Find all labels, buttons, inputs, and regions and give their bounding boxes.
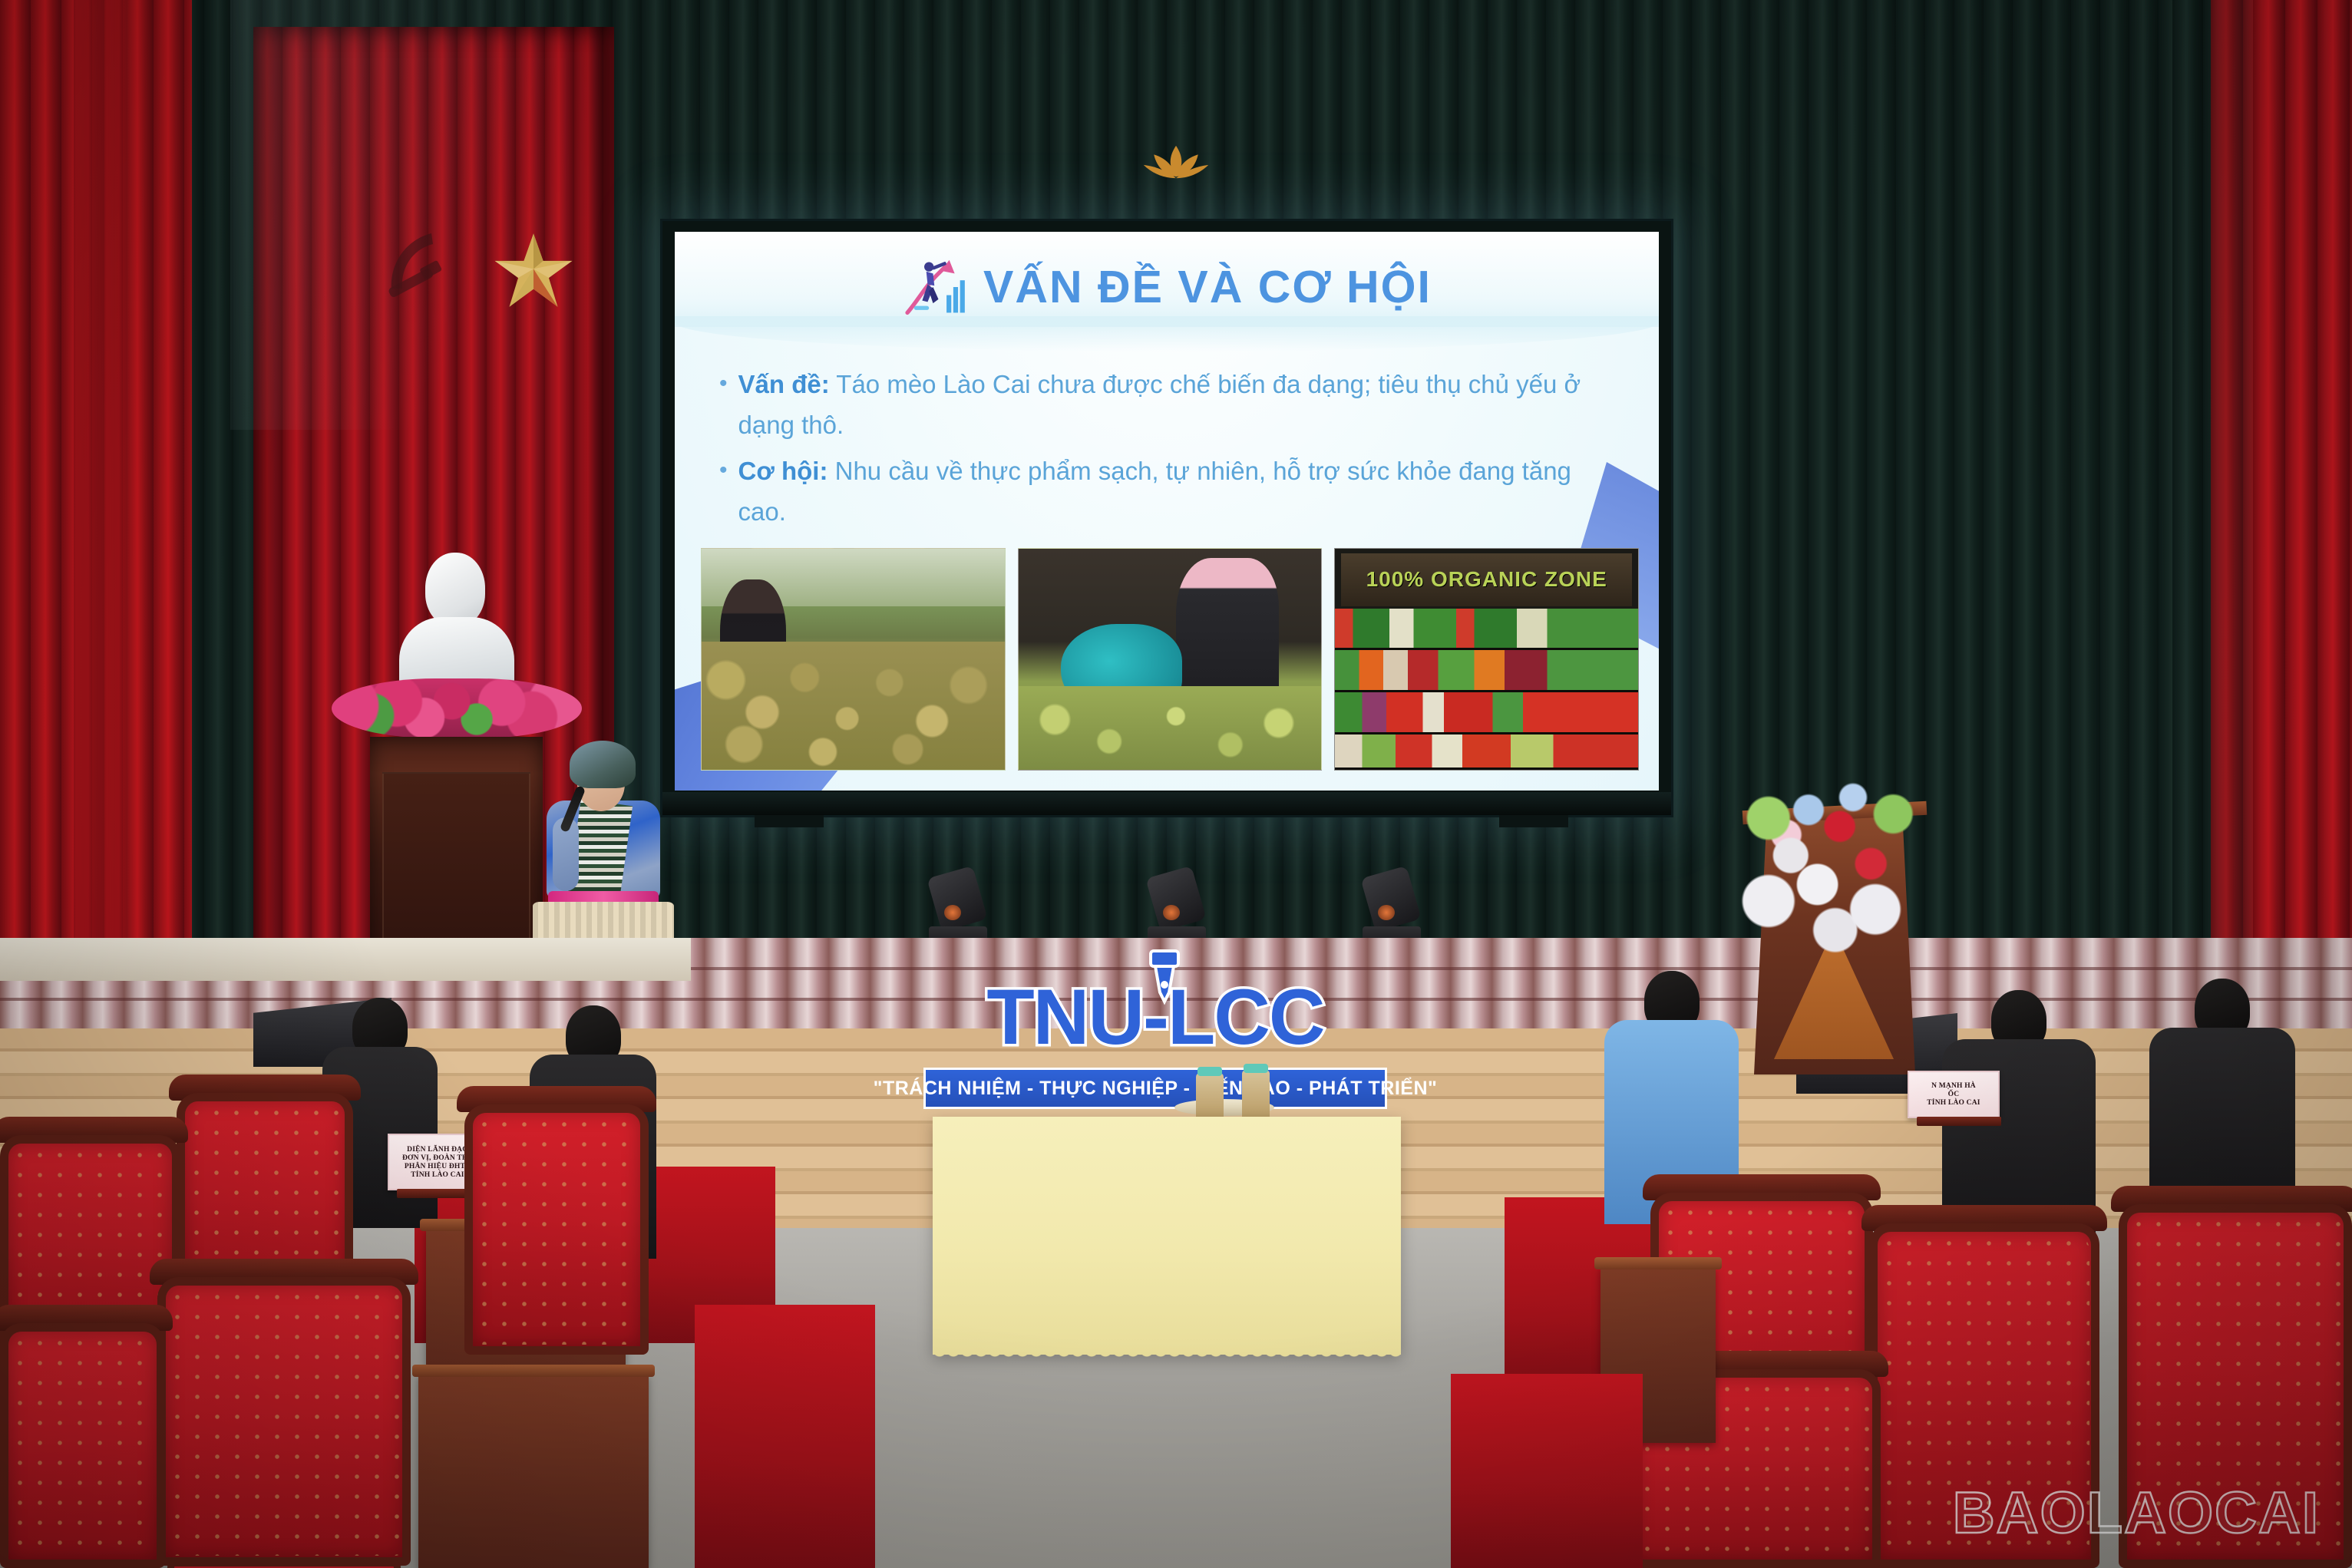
person-climbing-growth-arrow-chart-icon xyxy=(902,252,970,322)
chair-back xyxy=(157,1277,411,1566)
slide-photo-row: 100% ORGANIC ZONE xyxy=(701,548,1639,771)
spotlight-head xyxy=(1360,866,1421,932)
chair-upholstery-studs xyxy=(167,1287,401,1556)
namecard-stand xyxy=(1917,1117,2001,1126)
bullet-text: Cơ hội: Nhu cầu về thực phẩm sạch, tự nh… xyxy=(738,451,1625,533)
slide-title-row: VẤN ĐỀ VÀ CƠ HỘI xyxy=(675,252,1659,322)
produce-shelf-row xyxy=(1335,692,1638,734)
chair-upholstery-studs xyxy=(474,1114,639,1345)
product-display-table xyxy=(933,1117,1401,1355)
right-red-curtain-fold xyxy=(2211,0,2257,1059)
bullet-body-text: Nhu cầu về thực phẩm sạch, tự nhiên, hỗ … xyxy=(738,457,1571,526)
slide-title: VẤN ĐỀ VÀ CƠ HỘI xyxy=(983,261,1432,313)
conference-stage-photo: VẤN ĐỀ VÀ CƠ HỘI • Vấn đề: Táo mèo Lào C… xyxy=(0,0,2352,1568)
pedestal-flower-arrangement xyxy=(332,678,582,738)
namecard-line: N MẠNH HÀ xyxy=(1931,1082,1976,1090)
fountain-pen-nib-icon xyxy=(1141,949,1188,1023)
chair-seat xyxy=(167,1560,401,1568)
audience-chair xyxy=(464,1086,649,1355)
namecard-line: PHÂN HIỆU ĐHTN xyxy=(405,1163,471,1170)
slide-bullet-list: • Vấn đề: Táo mèo Lào Cai chưa được chế … xyxy=(719,364,1625,537)
logo-slogan-bar: "TRÁCH NHIỆM - THỰC NGHIỆP - KIẾN TẠO - … xyxy=(923,1068,1387,1109)
presentation-slide: VẤN ĐỀ VÀ CƠ HỘI • Vấn đề: Táo mèo Lào C… xyxy=(675,232,1659,791)
namecard-line: ĐƠN VỊ, ĐOÀN THỂ xyxy=(402,1154,473,1162)
spotlight-lens xyxy=(1378,905,1395,920)
side-table xyxy=(418,1374,649,1568)
right-red-curtain xyxy=(2253,0,2352,1074)
slide-bullet-item: • Vấn đề: Táo mèo Lào Cai chưa được chế … xyxy=(719,364,1625,446)
spotlight-lens xyxy=(944,905,961,920)
namecard-line: DIỆN LÃNH ĐẠO xyxy=(407,1146,468,1154)
spotlight-lens xyxy=(1163,905,1180,920)
jar-cap xyxy=(1197,1067,1222,1076)
hammer-and-sickle-icon xyxy=(376,223,453,315)
chair-back xyxy=(464,1104,649,1355)
side-table-top xyxy=(412,1365,655,1377)
produce-shelf-row xyxy=(1335,609,1638,651)
chair-upholstery-studs xyxy=(10,1333,155,1558)
side-table-top xyxy=(1594,1257,1722,1269)
event-logo-board: TNU-LCC "TRÁCH NHIỆM - THỰC NGHIỆP - KIẾ… xyxy=(917,963,1393,1117)
product-jar xyxy=(1242,1070,1270,1121)
pedestal-panel xyxy=(382,772,530,950)
organic-zone-sign: 100% ORGANIC ZONE xyxy=(1341,553,1632,606)
slide-photo-harvest xyxy=(1018,548,1323,771)
audience-chair xyxy=(0,1305,165,1568)
presenter-head-scarf xyxy=(570,741,636,788)
bullet-lead-label: Vấn đề: xyxy=(738,370,830,398)
produce-shelf-row xyxy=(1335,734,1638,770)
audience-table xyxy=(695,1305,875,1568)
jar-cap xyxy=(1244,1064,1268,1073)
spotlight-head xyxy=(1145,866,1206,932)
slide-bullet-item: • Cơ hội: Nhu cầu về thực phẩm sạch, tự … xyxy=(719,451,1625,533)
news-agency-watermark: BAOLAOCAI xyxy=(1953,1480,2320,1547)
tablecloth-scalloped-hem xyxy=(933,1352,1401,1362)
slide-photo-market xyxy=(701,548,1006,771)
bullet-dot-icon: • xyxy=(719,451,728,533)
photo-apple-piles xyxy=(702,642,1005,770)
projection-screen: VẤN ĐỀ VÀ CƠ HỘI • Vấn đề: Táo mèo Lào C… xyxy=(660,219,1673,817)
bullet-body-text: Táo mèo Lào Cai chưa được chế biến đa dạ… xyxy=(738,370,1581,439)
produce-shelf-row xyxy=(1335,650,1638,692)
slide-photo-organic-zone: 100% ORGANIC ZONE xyxy=(1334,548,1639,771)
namecard-line: ỐC xyxy=(1948,1091,1960,1098)
audience-table xyxy=(1451,1374,1643,1568)
lectern-flower-bouquet xyxy=(1719,756,1942,963)
screen-foot xyxy=(1499,815,1568,827)
namecard-line: TỈNH LÀO CAI xyxy=(1927,1099,1980,1107)
photo-fruit-on-floor xyxy=(1019,686,1322,770)
audience-namecard: N MẠNH HÀ ỐC TỈNH LÀO CAI xyxy=(1908,1071,2000,1118)
bullet-dot-icon: • xyxy=(719,364,728,446)
bullet-lead-label: Cơ hội: xyxy=(738,457,828,485)
stage-step-edge xyxy=(0,938,691,981)
bust-pedestal xyxy=(370,737,543,967)
organic-zone-sign-text: 100% ORGANIC ZONE xyxy=(1366,567,1607,592)
audience-chair xyxy=(157,1259,411,1566)
namecard-line: TỈNH LÀO CAI xyxy=(411,1171,464,1179)
bullet-text: Vấn đề: Táo mèo Lào Cai chưa được chế bi… xyxy=(738,364,1625,446)
ho-chi-minh-bust xyxy=(399,553,514,698)
product-jar xyxy=(1196,1073,1224,1121)
bust-head xyxy=(425,553,485,626)
screen-foot xyxy=(755,815,824,827)
spotlight-head xyxy=(927,866,987,932)
screen-bottom-bezel xyxy=(662,792,1671,815)
gold-star-icon xyxy=(491,230,576,311)
left-red-curtain-fold xyxy=(74,0,127,1044)
logo-slogan-text: "TRÁCH NHIỆM - THỰC NGHIỆP - KIẾN TẠO - … xyxy=(874,1078,1438,1100)
chair-back xyxy=(0,1323,165,1568)
lotus-emblem-icon xyxy=(1139,143,1213,181)
